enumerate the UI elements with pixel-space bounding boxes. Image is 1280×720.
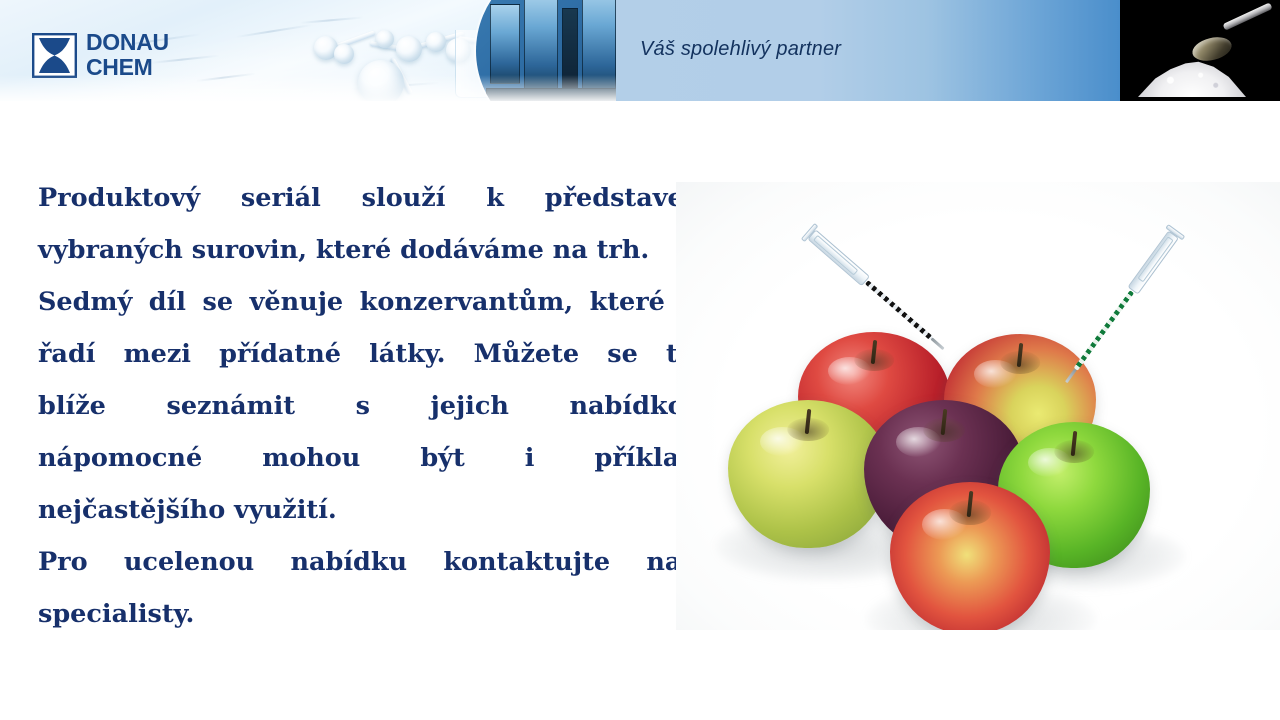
slide-header: DONAU CHEM Váš spolehlivý partner	[0, 0, 1280, 101]
paragraph-1-line-2: vybraných surovin, které dodáváme na trh…	[38, 224, 712, 276]
paragraph-2-line-3: blíže seznámit s jejich nabídkou,	[38, 380, 712, 432]
paragraph-3-line-1: Pro ucelenou nabídku kontaktujte naše	[38, 536, 712, 588]
apples-with-syringes-photo	[676, 182, 1280, 630]
paragraph-1: Produktový seriál slouží k představení v…	[38, 172, 712, 276]
body-copy: Produktový seriál slouží k představení v…	[38, 172, 712, 640]
industrial-tanks-circle-photo	[476, 0, 616, 101]
header-left-banner: DONAU CHEM	[0, 0, 616, 101]
hourglass-mark-icon	[32, 33, 77, 78]
header-powder-photo	[1120, 0, 1280, 101]
header-slogan-band: Váš spolehlivý partner	[616, 0, 1120, 101]
scoop-handle	[1223, 2, 1273, 30]
paragraph-2-line-4: nápomocné mohou být i příklady	[38, 432, 712, 484]
logo-text-chem: CHEM	[86, 56, 169, 79]
paragraph-2-line-1: Sedmý díl se věnuje konzervantům, které …	[38, 276, 712, 328]
donau-chem-logo[interactable]: DONAU CHEM	[32, 31, 169, 79]
paragraph-2-line-5: nejčastějšího využití.	[38, 484, 712, 536]
paragraph-2: Sedmý díl se věnuje konzervantům, které …	[38, 276, 712, 536]
paragraph-2-line-2: řadí mezi přídatné látky. Můžete se tak	[38, 328, 712, 380]
powder-pile	[1138, 55, 1246, 97]
slogan-text: Váš spolehlivý partner	[640, 38, 841, 61]
logo-text-donau: DONAU	[86, 31, 169, 54]
apple-red-front	[890, 482, 1050, 630]
tank-grid	[476, 0, 616, 101]
paragraph-3-line-2: specialisty.	[38, 588, 712, 640]
slide: DONAU CHEM Váš spolehlivý partner Produk…	[0, 0, 1280, 720]
scoop-bowl	[1190, 33, 1234, 64]
paragraph-3: Pro ucelenou nabídku kontaktujte naše sp…	[38, 536, 712, 640]
paragraph-1-line-1: Produktový seriál slouží k představení	[38, 172, 712, 224]
